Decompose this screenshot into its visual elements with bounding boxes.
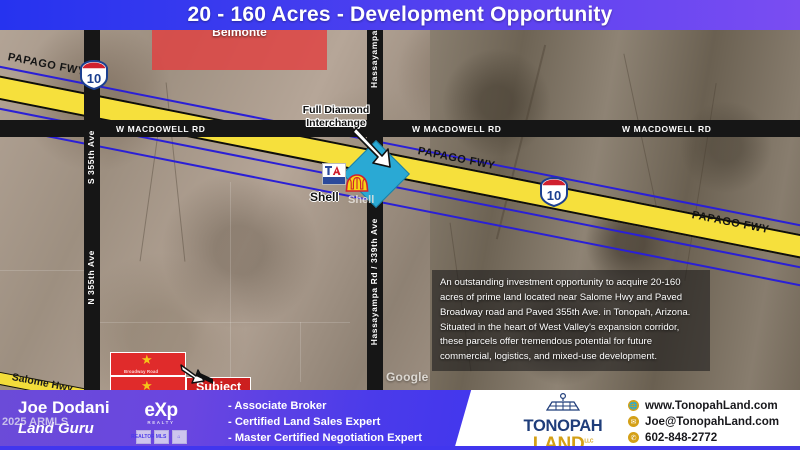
credential-item: - Certified Land Sales Expert [228,414,422,430]
land-house-icon [539,393,587,412]
contact-website[interactable]: 🌐 www.TonopahLand.com [628,399,779,412]
marketing-flyer: 20 - 160 Acres - Development Opportunity… [0,0,800,450]
satellite-map[interactable]: Belmonte PAPAGO FWY PAPAGO FWY PAPAGO FW… [0,22,800,390]
contact-email[interactable]: ✉ Joe@TonopahLand.com [628,415,779,428]
footer-broker-panel: 2025 ARMLS Joe Dodani Land Guru eXp REAL… [0,390,492,450]
exp-realty-logo: eXp REALTY REALTOR MLS ⌂ [126,400,196,444]
realtor-badges: REALTOR MLS ⌂ [126,430,196,444]
phone-icon: ✆ [628,432,639,443]
llc-suffix: LLC [584,438,593,444]
equal-housing-badge-icon: ⌂ [172,430,187,444]
exp-wordmark: eXp [126,400,196,422]
parcel-star-icon: ★ [141,378,153,390]
hassayampa-label-top: Hassayampa [369,30,379,88]
contact-phone[interactable]: ✆ 602-848-2772 [628,431,779,444]
description-box: An outstanding investment opportunity to… [432,270,710,371]
credential-item: - Master Certified Negotiation Expert [228,430,422,446]
parcel-grid-line [0,270,92,271]
email-text: Joe@TonopahLand.com [645,415,779,428]
mls-badge-icon: MLS [154,430,169,444]
svg-text:10: 10 [547,188,561,203]
footer-bar: 2025 ARMLS Joe Dodani Land Guru eXp REAL… [0,390,800,450]
svg-text:10: 10 [87,71,101,86]
envelope-icon: ✉ [628,416,639,427]
macdowell-label-west: W MACDOWELL RD [116,124,205,134]
shell-station-icon [345,174,369,195]
n-355th-ave-label: N 355th Ave [86,250,96,305]
tonopah-wordmark: TONOPAH [510,418,616,435]
parcel-star-icon: ★ [141,352,153,368]
phone-text: 602-848-2772 [645,431,717,444]
title-bar: 20 - 160 Acres - Development Opportunity [0,0,800,30]
page-title: 20 - 160 Acres - Development Opportunity [188,3,613,27]
macdowell-label-east: W MACDOWELL RD [622,124,711,134]
interchange-arrow-icon [352,126,396,170]
parcel-grid-line [230,182,231,382]
broadway-road-label: Broadway Road [124,369,158,374]
website-text: www.TonopahLand.com [645,399,778,412]
contact-list: 🌐 www.TonopahLand.com ✉ Joe@TonopahLand.… [628,399,779,447]
macdowell-label-mid: W MACDOWELL RD [412,124,501,134]
credentials-list: - Associate Broker - Certified Land Sale… [228,398,422,446]
interchange-callout-line1: Full Diamond [284,104,388,117]
subject-arrow-icon [180,362,214,388]
shell-label: Shell [310,190,339,204]
globe-icon: 🌐 [628,400,639,411]
parcel-grid-line [100,322,350,323]
parcel-grid-line [300,322,301,382]
hassayampa-339th-label: Hassayampa Rd / 339th Ave [369,218,379,345]
footer-contact-panel: TONOPAH LANDLLC RESIDENTIAL · COMMERCIAL… [492,390,800,450]
s-355th-ave-label: S 355th Ave [86,130,96,184]
interstate-10-shield-east: 10 [540,177,568,207]
google-watermark: Google [386,370,429,384]
exp-tagline: REALTY [126,420,196,425]
realtor-badge-icon: REALTOR [136,430,151,444]
ta-travel-center-icon [322,163,346,185]
armls-watermark: 2025 ARMLS [2,416,68,428]
footer-accent-bar [0,446,800,450]
credential-item: - Associate Broker [228,398,422,414]
tonopah-land-logo: TONOPAH LANDLLC RESIDENTIAL · COMMERCIAL… [510,393,616,450]
description-text: An outstanding investment opportunity to… [440,276,702,365]
interstate-10-shield-west: 10 [80,60,108,90]
shell-map-label-ghost: Shell [348,194,374,206]
broker-name: Joe Dodani [18,398,110,418]
